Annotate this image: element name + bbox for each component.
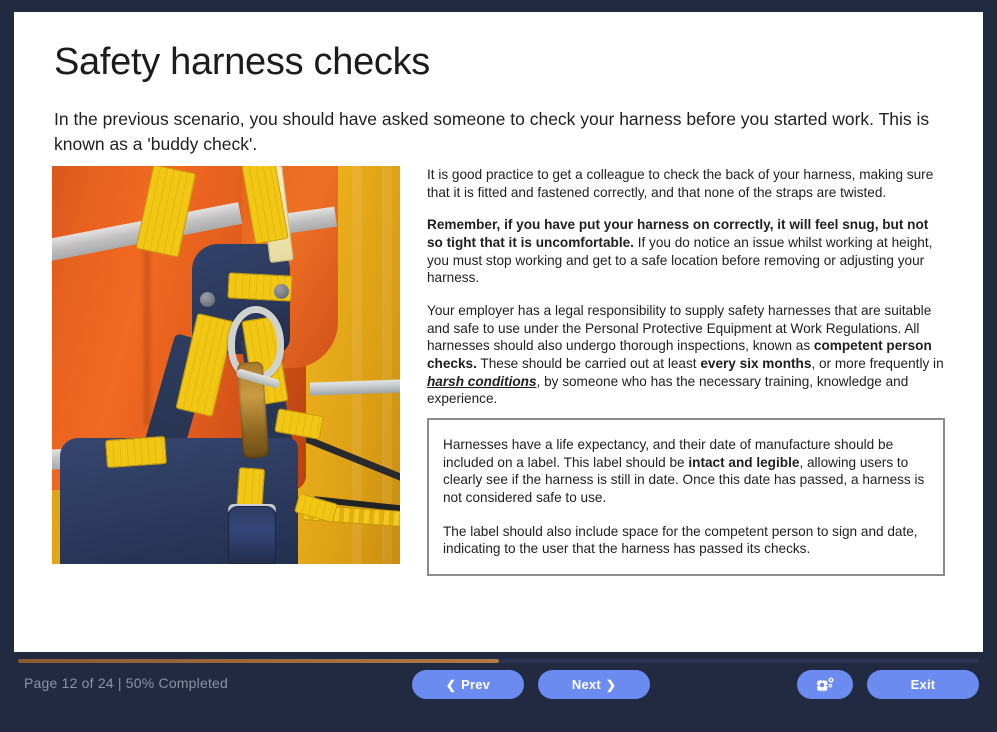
photo-canister [228,506,276,564]
utility-controls: Exit [797,670,979,699]
page-title: Safety harness checks [54,42,430,84]
body-paragraph-2: Remember, if you have put your harness o… [427,216,945,287]
photo-yellow-webbing [105,436,167,468]
course-progress-track [18,659,979,663]
body-text-column: It is good practice to get a colleague t… [427,166,945,408]
course-progress-fill [18,659,499,663]
exit-button[interactable]: Exit [867,670,979,699]
chevron-left-icon: ❮ [446,679,456,691]
callout-paragraph-1: Harnesses have a life expectancy, and th… [443,436,927,507]
intact-and-legible-emphasis: intact and legible [688,455,799,470]
photo-metal-bolt [274,284,289,299]
navigation-controls: ❮ Prev Next ❯ [412,670,650,699]
body-paragraph-1: It is good practice to get a colleague t… [427,166,945,201]
body-paragraph-3: Your employer has a legal responsibility… [427,302,945,408]
every-six-months-emphasis: every six months [700,356,811,371]
settings-button[interactable] [797,670,853,699]
photo-metal-bolt [200,292,215,307]
course-slide-viewer: Safety harness checks In the previous sc… [0,0,997,732]
harness-photo [52,166,400,564]
page-status-label: Page 12 of 24 | 50% Completed [24,675,228,691]
slide-card: Safety harness checks In the previous sc… [14,12,983,652]
photo-jacket-crease [144,236,150,426]
prev-button-label: Prev [461,677,490,692]
callout-paragraph-2: The label should also include space for … [443,523,927,558]
callout-box: Harnesses have a life expectancy, and th… [427,418,945,576]
body-paragraph-3-part-c: These should be carried out at least [477,356,700,371]
body-paragraph-3-part-e: , or more frequently in [811,356,943,371]
prev-button[interactable]: ❮ Prev [412,670,524,699]
slide-intro-text: In the previous scenario, you should hav… [54,107,944,157]
next-button-label: Next [572,677,601,692]
chevron-right-icon: ❯ [606,679,616,691]
cogs-icon [815,677,835,693]
glossary-link-harsh-conditions[interactable]: harsh conditions [427,374,537,389]
next-button[interactable]: Next ❯ [538,670,650,699]
exit-button-label: Exit [911,677,936,692]
